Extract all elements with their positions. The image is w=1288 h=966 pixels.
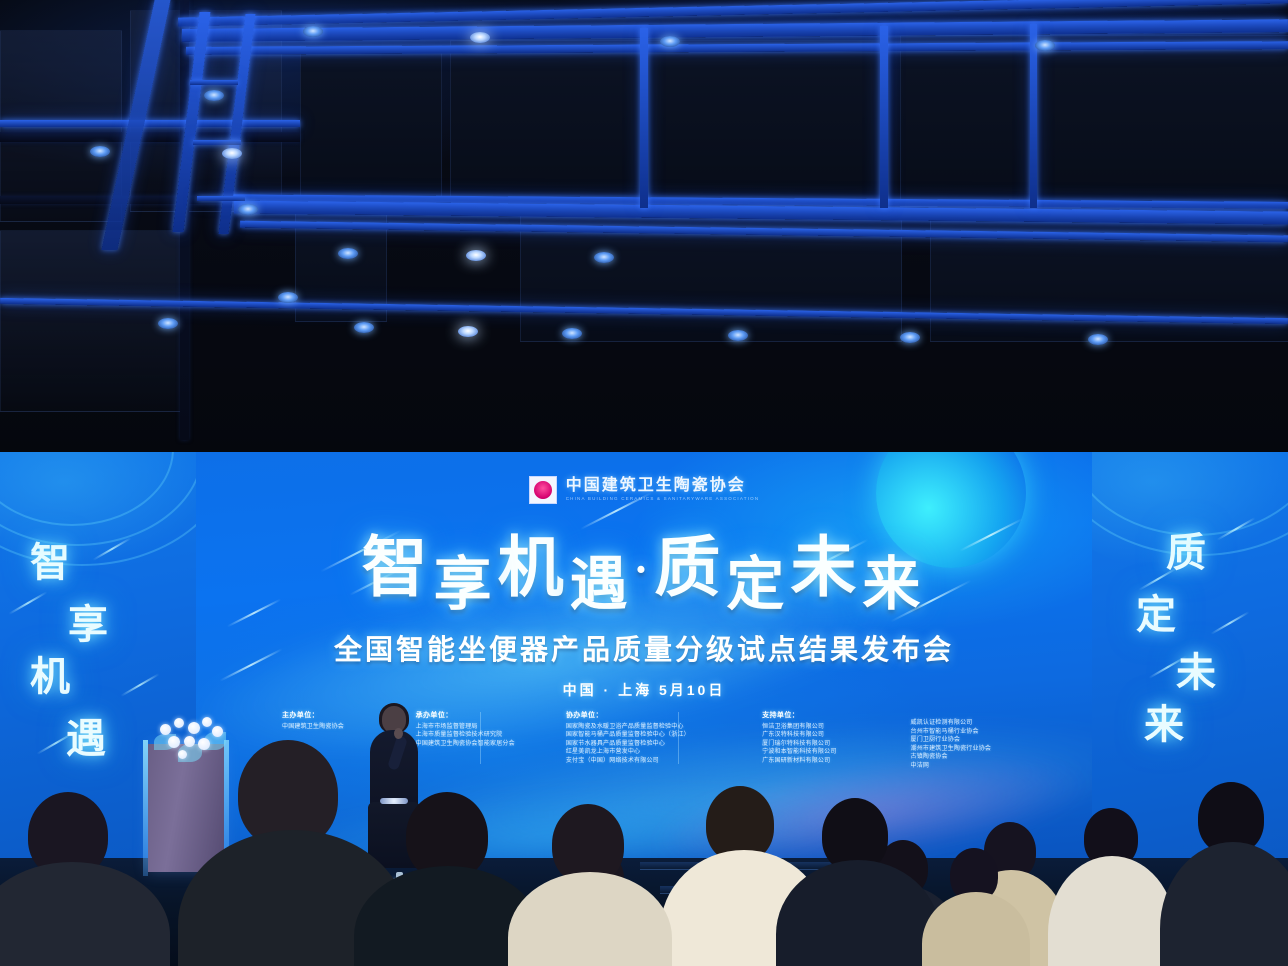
left-banner-char-3: 机 <box>30 644 70 702</box>
event-dateline: 中国 · 上海 5月10日 <box>196 680 1092 700</box>
person-shoulders <box>776 860 940 966</box>
stage-spotlight <box>660 36 680 47</box>
stage-spotlight <box>728 330 748 341</box>
ceiling-dark-panel <box>900 35 1288 207</box>
supporter-line: 广东汉特科技有限公司 <box>762 731 898 740</box>
stage-spotlight <box>238 204 258 215</box>
stage-spotlight <box>562 328 582 339</box>
flower <box>184 736 195 747</box>
conference-stage-scene: 智 享 机 遇 质 定 未 来 <box>0 0 1288 966</box>
title-char-xiang: 享 <box>434 552 498 617</box>
ripple-decoration <box>1088 452 1288 536</box>
co-organizer-line: 支付宝（中国）网络技术有限公司 <box>566 757 750 766</box>
stage-spotlight <box>222 148 242 159</box>
credits-divider <box>678 712 679 764</box>
stage-spotlight <box>204 90 224 101</box>
lighting-truss-vertical <box>1030 24 1037 208</box>
supporter-line: 厦门卫厨行业协会 <box>911 736 1011 745</box>
supporter-line: 台州市智能马桶行业协会 <box>911 728 1011 737</box>
flower <box>212 726 223 737</box>
audience-member <box>930 846 1020 966</box>
title-char-ji: 机 <box>498 532 570 605</box>
co-organizer-line: 国家智能马桶产品质量监督检验中心（浙江） <box>566 731 750 740</box>
slash-decoration <box>1216 517 1255 541</box>
stage-spotlight <box>466 250 486 261</box>
supporter-line: 广东国研新材料有限公司 <box>762 757 898 766</box>
presenter-hand-with-mic <box>394 728 403 739</box>
lighting-truss-vertical <box>880 26 888 208</box>
stage-spotlight <box>458 326 478 337</box>
flower <box>178 750 187 759</box>
slash-decoration <box>92 537 131 561</box>
flower-arrangement <box>152 714 228 760</box>
audience-member <box>524 816 654 966</box>
credits-supporters-a: 支持单位： 恒洁卫浴集团有限公司 广东汉特科技有限公司 厦门瑞尔特科技有限公司 … <box>762 710 910 771</box>
title-char-wei: 未 <box>790 532 862 605</box>
person-shoulders <box>922 892 1030 966</box>
right-banner-char-2: 定 <box>1136 582 1176 640</box>
ripple-decoration <box>0 452 200 566</box>
slash-decoration <box>8 591 47 615</box>
person-shoulders <box>1048 856 1176 966</box>
left-banner-char-4: 遇 <box>66 706 106 764</box>
stage-spotlight <box>900 332 920 343</box>
slash-decoration <box>1210 611 1249 635</box>
stage-spotlight <box>1035 40 1055 51</box>
credits-co-organizer: 协办单位： 国家陶瓷及水暖卫浴产品质量监督检验中心 国家智能马桶产品质量监督检验… <box>566 710 762 771</box>
lighting-truss-horizontal <box>0 120 300 127</box>
supporter-line: 潮州市建筑卫生陶瓷行业协会 <box>911 745 1011 754</box>
presenter-head <box>382 706 406 733</box>
supporter-line: 威凯认证检测有限公司 <box>911 719 1011 728</box>
ripple-decoration <box>0 452 200 546</box>
supporter-line: 宁波和本智能科技有限公司 <box>762 748 898 757</box>
stage-spotlight <box>158 318 178 329</box>
person-shoulders <box>1160 842 1288 966</box>
audience-member <box>790 802 922 966</box>
ceiling-dark-panel <box>450 40 882 202</box>
event-main-title: 智享机遇·质定未来 <box>196 514 1092 610</box>
association-name-en: CHINA BUILDING CERAMICS & SANITARYWARE A… <box>566 497 760 502</box>
audience-member <box>372 808 522 966</box>
event-subtitle: 全国智能坐便器产品质量分级试点结果发布会 <box>196 628 1092 668</box>
supporter-line: 厦门瑞尔特科技有限公司 <box>762 740 898 749</box>
co-organizer-line: 国家节水器具产品质量监督检验中心 <box>566 740 750 749</box>
host-line: 上海市市场监督管理局 <box>416 723 554 732</box>
person-shoulders <box>0 862 170 966</box>
stage-spotlight <box>278 292 298 303</box>
slash-decoration <box>120 673 159 697</box>
title-char-lai: 来 <box>862 552 926 617</box>
emblem-shape <box>534 481 552 499</box>
title-char-zhi2: 质 <box>654 532 726 605</box>
lighting-truss-rung <box>197 196 245 201</box>
lighting-truss-rung <box>190 80 238 85</box>
association-logo-lockup: 中国建筑卫生陶瓷协会 CHINA BUILDING CERAMICS & SAN… <box>196 476 1092 504</box>
stage-spotlight <box>303 26 323 37</box>
right-banner-char-4: 来 <box>1144 692 1184 750</box>
supporter-line: 恒洁卫浴集团有限公司 <box>762 723 898 732</box>
stage-spotlight <box>354 322 374 333</box>
ceiling-truss-area <box>0 0 1288 455</box>
lighting-truss-rung <box>193 140 241 145</box>
ceiling-dark-panel <box>300 45 442 197</box>
co-organizer-heading: 协办单位： <box>566 710 750 720</box>
flower <box>168 736 180 748</box>
right-banner-char-3: 未 <box>1176 640 1216 698</box>
supporter-line: 中洁网 <box>911 762 1011 771</box>
stage-spotlight <box>90 146 110 157</box>
flower <box>174 718 184 728</box>
person-shoulders <box>508 872 672 966</box>
title-char-yu: 遇 <box>570 552 634 617</box>
left-banner-char-2: 享 <box>68 592 108 650</box>
stage-spotlight <box>1088 334 1108 345</box>
lighting-truss-vertical <box>640 28 648 208</box>
credits-host: 承办单位： 上海市市场监督管理局 上海市质量监督检验技术研究院 中国建筑卫生陶瓷… <box>416 710 566 771</box>
title-char-ding: 定 <box>726 552 790 617</box>
ceiling-beam <box>0 132 300 142</box>
flower <box>202 717 212 727</box>
stage-spotlight <box>338 248 358 259</box>
flower <box>188 722 200 734</box>
credits-supporters-b: 威凯认证检测有限公司 台州市智能马桶行业协会 厦门卫厨行业协会 潮州市建筑卫生陶… <box>911 710 1023 771</box>
co-organizer-line: 红星美凯龙上海市营发中心 <box>566 748 750 757</box>
presenter-belt <box>380 798 408 804</box>
stage-spotlight <box>470 32 490 43</box>
host-line: 中国建筑卫生陶瓷协会智能家居分会 <box>416 740 554 749</box>
ceiling-panel <box>0 230 182 412</box>
association-name-cn: 中国建筑卫生陶瓷协会 <box>566 478 760 494</box>
flower <box>160 724 171 735</box>
audience-member <box>1060 798 1160 966</box>
host-heading: 承办单位： <box>416 710 554 720</box>
right-banner-char-1: 质 <box>1166 520 1206 578</box>
title-separator-dot: · <box>634 545 655 594</box>
association-emblem-icon <box>529 476 557 504</box>
left-banner-char-1: 智 <box>30 530 70 588</box>
supporters-heading: 支持单位： <box>762 710 898 720</box>
stage-spotlight <box>594 252 614 263</box>
flower <box>198 738 210 750</box>
credits-divider <box>480 712 481 764</box>
title-char-zhi: 智 <box>362 532 434 605</box>
ripple-decoration <box>1088 452 1288 556</box>
audience-member <box>0 806 154 966</box>
audience-member <box>1174 780 1288 966</box>
ripple-decoration <box>0 452 174 526</box>
co-organizer-line: 国家陶瓷及水暖卫浴产品质量监督检验中心 <box>566 723 750 732</box>
host-line: 上海市质量监督检验技术研究院 <box>416 731 554 740</box>
supporter-line: 古镇陶瓷协会 <box>911 753 1011 762</box>
